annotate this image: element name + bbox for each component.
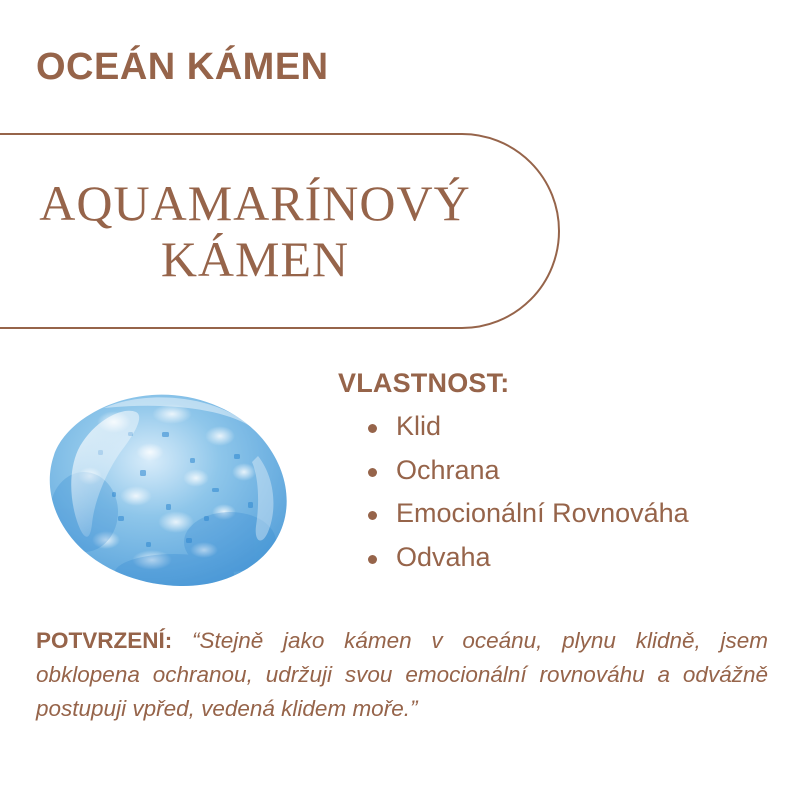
properties-list: Klid Ochrana Emocionální Rovnováha Odvah… <box>338 405 788 580</box>
page-eyebrow-title: OCEÁN KÁMEN <box>36 46 329 89</box>
list-item: Emocionální Rovnováha <box>364 492 788 536</box>
plaque-inner: AQUAMARÍNOVÝ KÁMEN <box>0 175 558 287</box>
stone-image <box>44 392 292 588</box>
list-item: Klid <box>364 405 788 449</box>
page-title: AQUAMARÍNOVÝ KÁMEN <box>2 175 508 287</box>
affirmation-label: POTVRZENÍ: <box>36 628 172 653</box>
affirmation-section: POTVRZENÍ: “Stejně jako kámen v oceánu, … <box>36 624 768 727</box>
info-card: OCEÁN KÁMEN AQUAMARÍNOVÝ KÁMEN <box>0 0 800 800</box>
list-item: Odvaha <box>364 536 788 580</box>
aquamarine-stone-icon <box>44 392 292 588</box>
properties-heading: VLASTNOST: <box>338 368 788 399</box>
properties-section: VLASTNOST: Klid Ochrana Emocionální Rovn… <box>338 368 788 580</box>
stone-name-plaque: AQUAMARÍNOVÝ KÁMEN <box>0 133 560 329</box>
list-item: Ochrana <box>364 449 788 493</box>
